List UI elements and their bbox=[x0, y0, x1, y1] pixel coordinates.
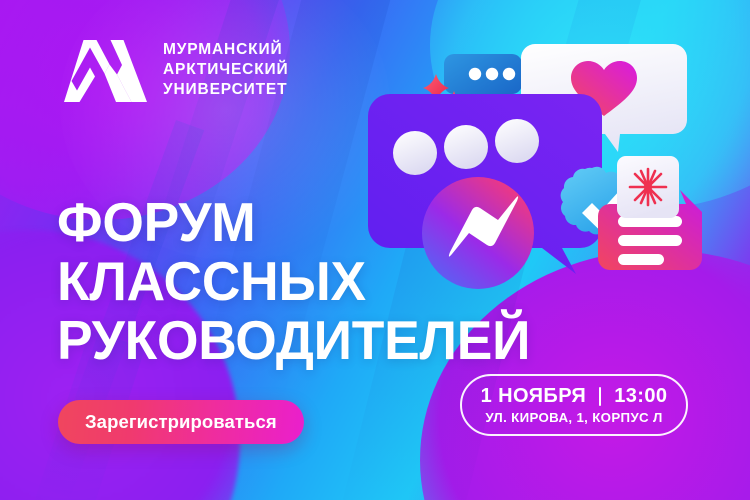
logo-line-3: УНИВЕРСИТЕТ bbox=[163, 81, 289, 99]
event-promo-banner: МУРМАНСКИЙ АРКТИЧЕСКИЙ УНИВЕРСИТЕТ bbox=[0, 0, 750, 500]
headline-line-2: КЛАССНЫХ bbox=[57, 255, 530, 308]
headline-line-3: РУКОВОДИТЕЛЕЙ bbox=[57, 314, 530, 367]
register-button[interactable]: Зарегистрироваться bbox=[58, 400, 304, 444]
event-datetime: 1 НОЯБРЯ 13:00 bbox=[481, 385, 668, 408]
university-logo-text: МУРМАНСКИЙ АРКТИЧЕСКИЙ УНИВЕРСИТЕТ bbox=[163, 41, 289, 100]
university-logo: МУРМАНСКИЙ АРКТИЧЕСКИЙ УНИВЕРСИТЕТ bbox=[63, 38, 289, 102]
event-time: 13:00 bbox=[614, 385, 667, 408]
mau-mountain-logo-icon bbox=[63, 38, 148, 102]
page-title: ФОРУМ КЛАССНЫХ РУКОВОДИТЕЛЕЙ bbox=[57, 196, 545, 366]
event-details-box: 1 НОЯБРЯ 13:00 УЛ. КИРОВА, 1, КОРПУС Л bbox=[460, 374, 688, 436]
headline-line-1: ФОРУМ bbox=[57, 196, 530, 249]
divider bbox=[599, 387, 601, 406]
event-address: УЛ. КИРОВА, 1, КОРПУС Л bbox=[485, 410, 662, 425]
logo-line-2: АРКТИЧЕСКИЙ bbox=[163, 61, 289, 79]
background-blob-violet-top-left bbox=[0, 0, 290, 220]
logo-line-1: МУРМАНСКИЙ bbox=[163, 41, 289, 59]
starburst-card-white-icon bbox=[617, 156, 679, 218]
event-date: 1 НОЯБРЯ bbox=[481, 385, 587, 408]
